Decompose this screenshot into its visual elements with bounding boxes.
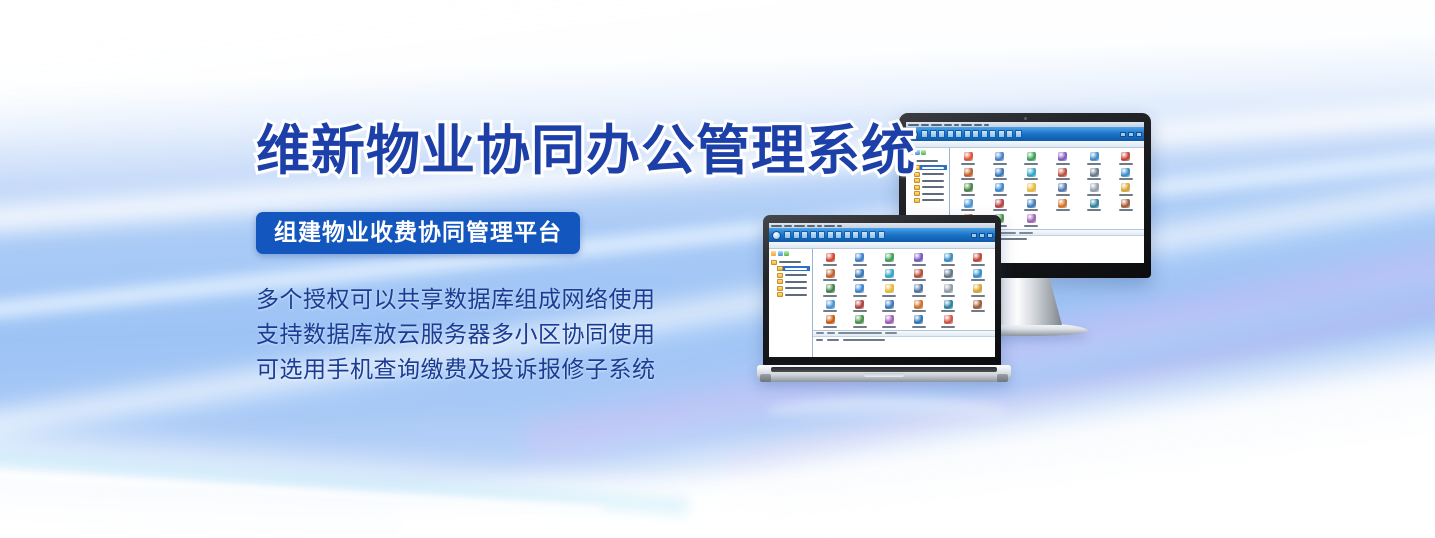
module-icon — [964, 168, 973, 177]
module-icon — [964, 199, 973, 208]
module-icon-label — [993, 178, 1007, 180]
module-icon-cell[interactable] — [1079, 152, 1110, 165]
tagline-badge: 组建物业收费协同管理平台 — [256, 212, 580, 254]
banner-text-block: 维新物业协同办公管理系统 组建物业收费协同管理平台 多个授权可以共享数据库组成网… — [256, 122, 916, 387]
module-icon-cell[interactable] — [1111, 168, 1142, 181]
module-icon-cell[interactable] — [964, 284, 993, 297]
maximize-icon[interactable] — [1128, 132, 1134, 137]
module-icon — [1027, 152, 1036, 161]
module-icon-label — [1119, 194, 1133, 196]
module-icon-cell[interactable] — [1111, 152, 1142, 165]
module-icon-label — [961, 209, 975, 211]
app-subbar — [906, 141, 1144, 148]
module-icon-cell[interactable] — [1016, 168, 1047, 181]
module-icon — [995, 168, 1004, 177]
module-icon-cell[interactable] — [985, 183, 1016, 196]
module-icon — [964, 183, 973, 192]
module-icon — [1058, 199, 1067, 208]
module-icon-cell[interactable] — [934, 269, 963, 282]
tree-node[interactable] — [914, 172, 947, 177]
module-icon-label — [1056, 163, 1070, 165]
module-icon-label — [1087, 194, 1101, 196]
toolbar-button[interactable] — [947, 130, 954, 138]
module-icon-label — [941, 310, 955, 312]
module-icon-label — [1119, 209, 1133, 211]
module-icon-label — [1024, 225, 1038, 227]
module-icon-cell[interactable] — [964, 253, 993, 266]
module-icon-label — [1056, 194, 1070, 196]
module-icon-label — [941, 295, 955, 297]
window-controls[interactable] — [1120, 132, 1142, 137]
module-icon — [1058, 152, 1067, 161]
module-icon-label — [971, 310, 985, 312]
module-icon — [1090, 168, 1099, 177]
device-reflection — [766, 398, 1006, 424]
module-icon-label — [1024, 178, 1038, 180]
close-icon[interactable] — [1136, 132, 1142, 137]
module-icon-label — [971, 295, 985, 297]
module-icon-cell[interactable] — [1016, 199, 1047, 212]
module-icon-label — [1024, 194, 1038, 196]
module-icon-cell[interactable] — [934, 315, 963, 328]
minimize-icon[interactable] — [971, 233, 977, 238]
module-icon-cell[interactable] — [1111, 183, 1142, 196]
minimize-icon[interactable] — [1120, 132, 1126, 137]
module-icon — [995, 183, 1004, 192]
module-icon-label — [993, 194, 1007, 196]
module-icon-cell[interactable] — [1079, 183, 1110, 196]
module-icon — [944, 284, 953, 293]
module-icon — [1058, 183, 1067, 192]
module-icon — [1027, 168, 1036, 177]
module-icon-cell[interactable] — [1048, 214, 1079, 227]
module-icon-cell[interactable] — [1111, 214, 1142, 227]
module-icon-cell[interactable] — [1016, 214, 1047, 227]
module-icon — [973, 269, 982, 278]
module-icon-label — [1119, 163, 1133, 165]
feature-line: 多个授权可以共享数据库组成网络使用 — [256, 282, 916, 317]
feature-list: 多个授权可以共享数据库组成网络使用 支持数据库放云服务器多小区协同使用 可选用手… — [256, 282, 916, 387]
module-icon-label — [971, 264, 985, 266]
module-icon-cell[interactable] — [985, 168, 1016, 181]
module-icon-cell[interactable] — [1079, 168, 1110, 181]
tree-node[interactable] — [914, 185, 947, 190]
module-icon-cell[interactable] — [934, 253, 963, 266]
module-icon — [1027, 214, 1036, 223]
module-icon-label — [941, 279, 955, 281]
tree-node[interactable] — [914, 198, 947, 203]
module-icon — [944, 253, 953, 262]
module-icon — [973, 300, 982, 309]
module-icon-cell[interactable] — [953, 152, 984, 165]
module-icon-label — [971, 279, 985, 281]
module-icon — [973, 253, 982, 262]
toolbar-button[interactable] — [938, 130, 945, 138]
module-icon — [1121, 152, 1130, 161]
module-icon — [944, 300, 953, 309]
module-icon-cell[interactable] — [953, 199, 984, 212]
module-icon-cell[interactable] — [1079, 214, 1110, 227]
toolbar-button[interactable] — [1006, 130, 1013, 138]
expand-icon[interactable] — [921, 150, 926, 155]
module-icon — [964, 152, 973, 161]
module-icon-label — [1087, 163, 1101, 165]
feature-line: 可选用手机查询缴费及投诉报修子系统 — [256, 352, 916, 387]
module-icon — [995, 199, 1004, 208]
module-icon-cell[interactable] — [1048, 168, 1079, 181]
module-icon-label — [993, 163, 1007, 165]
module-icon — [995, 152, 1004, 161]
toolbar-button[interactable] — [921, 130, 928, 138]
close-icon[interactable] — [987, 233, 993, 238]
module-icon-cell[interactable] — [1048, 152, 1079, 165]
module-icon — [1121, 183, 1130, 192]
module-icon-cell[interactable] — [964, 315, 993, 328]
module-icon-label — [941, 264, 955, 266]
module-icon — [1121, 199, 1130, 208]
module-icon — [1027, 183, 1036, 192]
module-icon-cell[interactable] — [953, 168, 984, 181]
module-icon — [944, 269, 953, 278]
module-icon-cell[interactable] — [1048, 183, 1079, 196]
module-icon-cell[interactable] — [1079, 199, 1110, 212]
module-icon-cell[interactable] — [1016, 183, 1047, 196]
module-icon-label — [1119, 178, 1133, 180]
module-icon-label — [1056, 178, 1070, 180]
toolbar-button[interactable] — [1015, 130, 1022, 138]
laptop-foot — [997, 374, 1008, 382]
module-icon-label — [961, 163, 975, 165]
module-icon-cell[interactable] — [934, 300, 963, 313]
page-title: 维新物业协同办公管理系统 — [256, 122, 916, 180]
module-icon-cell[interactable] — [934, 284, 963, 297]
module-icon — [1090, 152, 1099, 161]
module-icon-label — [1087, 178, 1101, 180]
toolbar-button[interactable] — [930, 130, 937, 138]
module-icon-label — [1087, 209, 1101, 211]
toolbar-button[interactable] — [964, 130, 971, 138]
toolbar-button[interactable] — [981, 130, 988, 138]
module-icon-label — [1024, 209, 1038, 211]
module-icon-cell[interactable] — [953, 183, 984, 196]
module-icon-cell[interactable] — [985, 152, 1016, 165]
module-icon — [1090, 199, 1099, 208]
module-icon-label — [1056, 209, 1070, 211]
feature-line: 支持数据库放云服务器多小区协同使用 — [256, 317, 916, 352]
webcam-icon — [1024, 117, 1027, 120]
module-icon-cell[interactable] — [964, 269, 993, 282]
module-icon-cell[interactable] — [985, 199, 1016, 212]
module-icon-label — [993, 209, 1007, 211]
module-icon — [944, 315, 953, 324]
module-icon — [1090, 183, 1099, 192]
module-icon-label — [1024, 163, 1038, 165]
tree-node[interactable] — [914, 165, 947, 170]
module-icon-cell[interactable] — [1111, 199, 1142, 212]
toolbar-button[interactable] — [998, 130, 1005, 138]
toolbar-button[interactable] — [972, 130, 979, 138]
module-icon — [1027, 199, 1036, 208]
maximize-icon[interactable] — [979, 233, 985, 238]
tree-node[interactable] — [914, 178, 947, 183]
app-titlebar — [906, 127, 1144, 141]
module-icon-cell[interactable] — [964, 300, 993, 313]
module-icon-cell[interactable] — [1016, 152, 1047, 165]
module-icon-cell[interactable] — [1048, 199, 1079, 212]
toolbar-button[interactable] — [955, 130, 962, 138]
module-icon — [973, 284, 982, 293]
promo-banner: 维新物业协同办公管理系统 组建物业收费协同管理平台 多个授权可以共享数据库组成网… — [0, 0, 1435, 538]
module-icon — [1058, 168, 1067, 177]
tree-node[interactable] — [914, 191, 947, 196]
window-controls[interactable] — [971, 233, 993, 238]
module-icon-label — [941, 326, 955, 328]
module-icon-label — [961, 178, 975, 180]
module-icon-label — [961, 194, 975, 196]
module-icon — [1121, 168, 1130, 177]
toolbar-button[interactable] — [989, 130, 996, 138]
